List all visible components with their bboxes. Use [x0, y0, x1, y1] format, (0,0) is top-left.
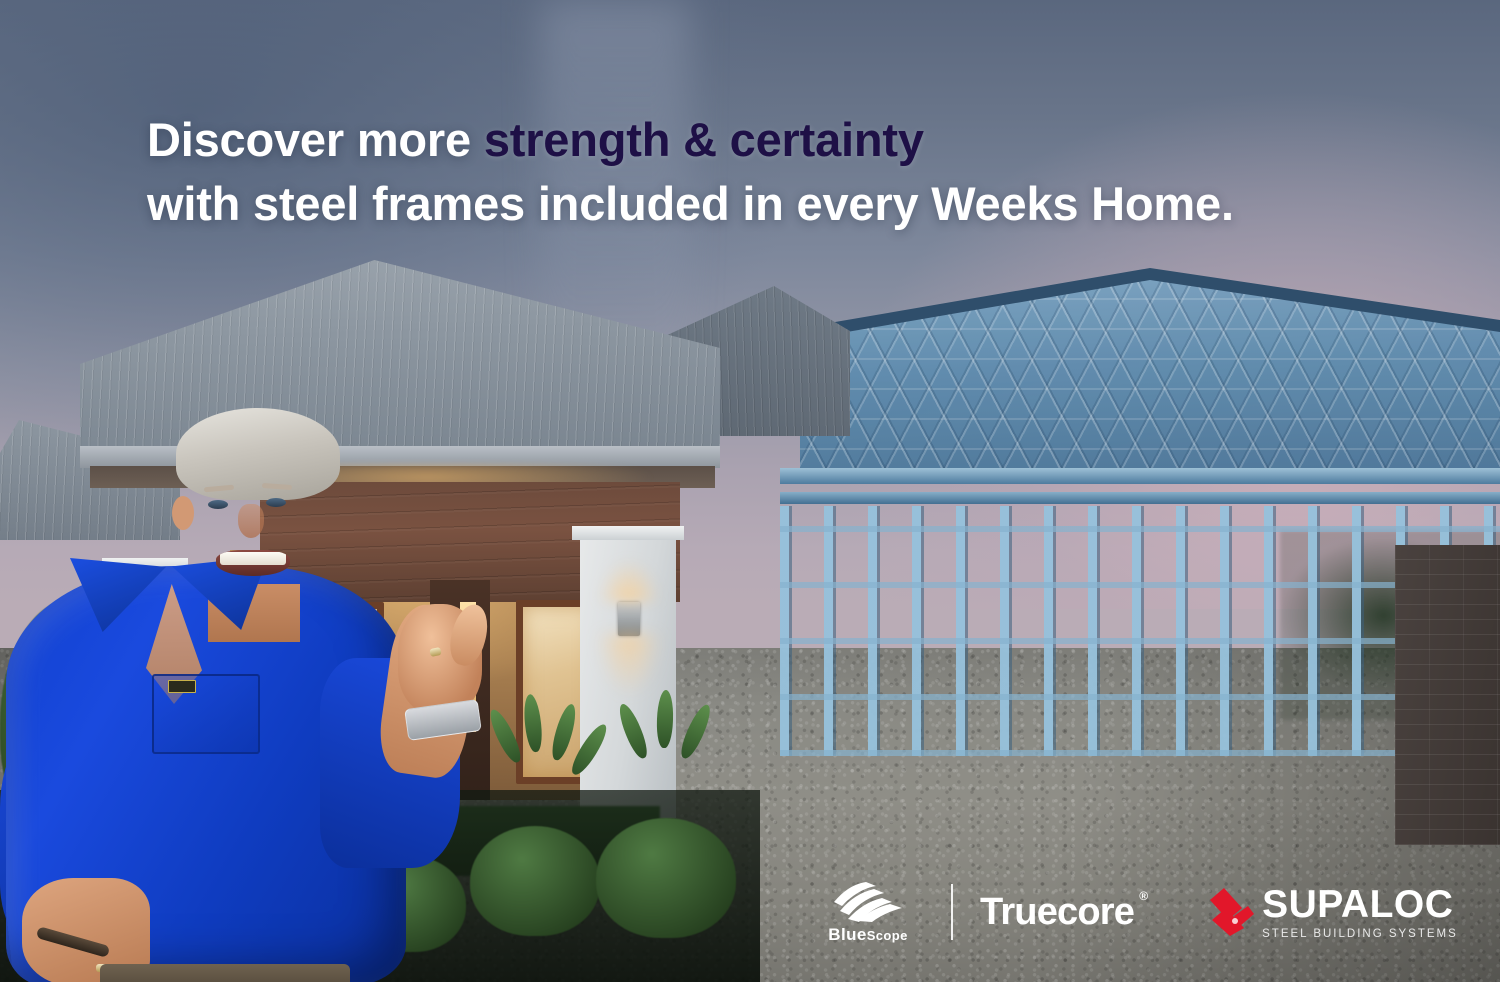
presenter-person	[0, 408, 520, 982]
partner-logo-bar: BlueScope Truecore® SUPALOC STEEL BUILDI…	[812, 876, 1458, 948]
eye-right	[266, 498, 286, 507]
truss-diagonal-webs	[800, 270, 1500, 480]
supaloc-wordmark: SUPALOC	[1262, 885, 1458, 924]
headline-accent-part: strength & certainty	[484, 113, 924, 166]
top-plate-beam	[780, 468, 1500, 484]
hair	[176, 408, 340, 500]
logo-divider	[951, 884, 953, 940]
brick-wall	[1395, 545, 1500, 845]
column-cap	[572, 526, 684, 540]
smiling-mouth	[216, 550, 290, 576]
brick-mortar-lines	[1395, 545, 1500, 845]
supaloc-text-block: SUPALOC STEEL BUILDING SYSTEMS	[1262, 885, 1458, 940]
bluescope-word-scope: Scope	[867, 928, 908, 943]
headline-white-part: Discover more	[147, 113, 484, 166]
bluescope-logo: BlueScope	[812, 880, 924, 945]
tool-belt	[100, 964, 350, 982]
steel-frame-structure	[780, 230, 1500, 790]
supaloc-angular-mark	[1208, 886, 1258, 938]
wall-noggins	[780, 506, 1500, 756]
secondary-beam	[780, 492, 1500, 504]
registered-trademark-icon: ®	[1139, 889, 1148, 903]
nose	[238, 504, 264, 538]
bluescope-word-blue: Blue	[828, 925, 866, 944]
teeth	[220, 552, 286, 565]
supaloc-logo: SUPALOC STEEL BUILDING SYSTEMS	[1208, 885, 1458, 940]
truecore-wordmark: Truecore	[980, 891, 1134, 933]
bluescope-wave-mark	[820, 880, 916, 922]
eye-left	[208, 500, 228, 509]
render-column-right	[580, 538, 676, 818]
truecore-logo: Truecore®	[980, 891, 1148, 934]
headline-line-2: with steel frames included in every Week…	[147, 172, 1367, 236]
shirt-brand-tag	[168, 680, 196, 693]
wall-sconce-right	[618, 602, 640, 636]
shrub	[596, 818, 736, 938]
ear	[172, 496, 194, 530]
marketing-banner: Discover more strength & certainty with …	[0, 0, 1500, 982]
supaloc-tagline: STEEL BUILDING SYSTEMS	[1262, 928, 1458, 940]
roof-truss-assembly	[800, 270, 1500, 480]
headline: Discover more strength & certainty with …	[147, 108, 1367, 236]
headline-line-1: Discover more strength & certainty	[147, 108, 1367, 172]
bluescope-wordmark: BlueScope	[828, 925, 907, 945]
